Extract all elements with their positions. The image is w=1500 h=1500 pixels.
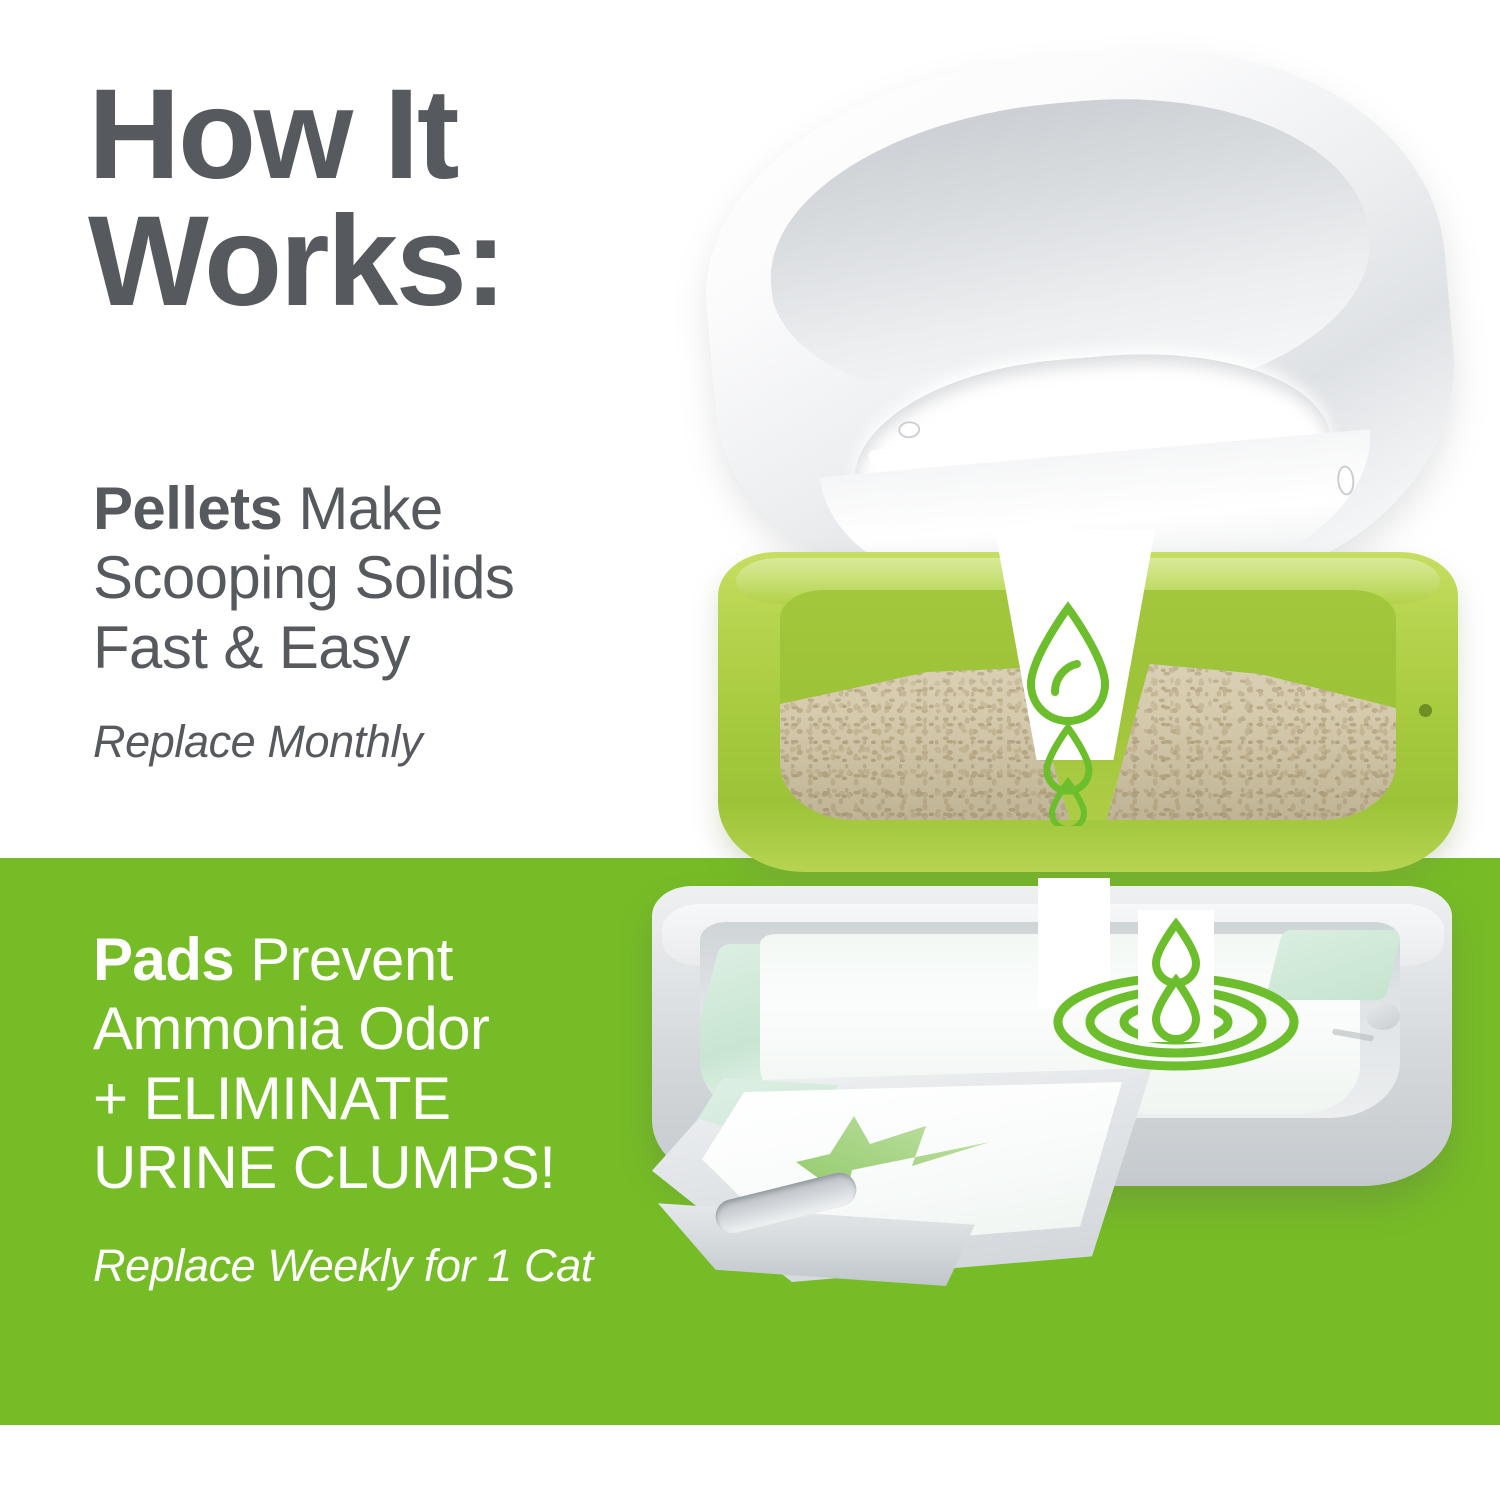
- pellets-line-1-rest: Make: [282, 475, 442, 542]
- pads-lead-word: Pads: [93, 926, 234, 993]
- product-exploded-view: [600, 40, 1500, 1320]
- base-release-button[interactable]: [1366, 1002, 1400, 1030]
- water-droplets-falling-icon: [1013, 596, 1123, 826]
- pads-line-1-rest: Prevent: [234, 926, 453, 993]
- tray-drain-hole-icon: [1419, 704, 1432, 717]
- infographic-canvas: How It Works: Pellets Make Scooping Soli…: [0, 0, 1500, 1500]
- slide-out-arrow-icon: [794, 1112, 994, 1232]
- water-droplets-absorbing-icon: [1138, 910, 1214, 1042]
- pull-out-pad-drawer[interactable]: [652, 1068, 1172, 1298]
- pellets-lead-word: Pellets: [93, 475, 282, 542]
- absorption-ripple-icon: [1046, 910, 1306, 1080]
